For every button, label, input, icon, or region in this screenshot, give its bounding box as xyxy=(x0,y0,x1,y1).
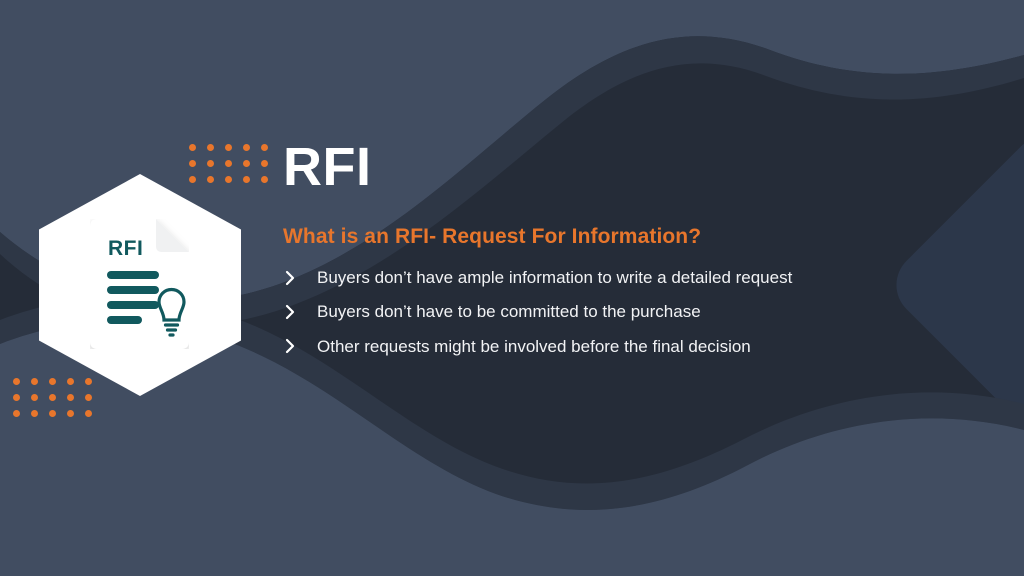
document-line xyxy=(107,271,159,279)
dot xyxy=(243,160,250,167)
document-folded-corner xyxy=(156,219,189,252)
rfi-document-icon: RFI xyxy=(90,219,189,349)
dot xyxy=(207,160,214,167)
document-title-text: RFI xyxy=(108,237,143,260)
list-item-label: Other requests might be involved before … xyxy=(317,336,751,357)
chevron-right-icon xyxy=(283,269,297,287)
dot xyxy=(13,410,20,417)
page-title: RFI xyxy=(283,140,983,194)
dot xyxy=(31,410,38,417)
bullet-list: Buyers don’t have ample information to w… xyxy=(283,267,983,357)
rfi-badge: RFI xyxy=(39,174,241,396)
chevron-right-icon xyxy=(283,337,297,355)
list-item: Other requests might be involved before … xyxy=(283,336,983,357)
dot xyxy=(261,160,268,167)
dot xyxy=(49,410,56,417)
dot xyxy=(31,378,38,385)
dot xyxy=(13,378,20,385)
dot xyxy=(261,176,268,183)
document-line xyxy=(107,286,159,294)
dot xyxy=(31,394,38,401)
dot xyxy=(243,176,250,183)
dot xyxy=(225,144,232,151)
dot xyxy=(67,410,74,417)
document-line xyxy=(107,301,159,309)
section-subtitle: What is an RFI- Request For Information? xyxy=(283,225,983,249)
dot xyxy=(13,394,20,401)
list-item-label: Buyers don’t have ample information to w… xyxy=(317,267,792,288)
list-item-label: Buyers don’t have to be committed to the… xyxy=(317,301,701,322)
dot xyxy=(261,144,268,151)
document-line xyxy=(107,316,142,324)
dot xyxy=(207,144,214,151)
dot xyxy=(189,144,196,151)
list-item: Buyers don’t have to be committed to the… xyxy=(283,301,983,322)
dot xyxy=(225,160,232,167)
content-column: RFI What is an RFI- Request For Informat… xyxy=(283,140,983,370)
dot xyxy=(243,144,250,151)
dot xyxy=(85,410,92,417)
chevron-right-icon xyxy=(283,303,297,321)
dot xyxy=(189,160,196,167)
slide-canvas: RFI RFI What is an RFI- Request For Info… xyxy=(0,0,1024,576)
list-item: Buyers don’t have ample information to w… xyxy=(283,267,983,288)
